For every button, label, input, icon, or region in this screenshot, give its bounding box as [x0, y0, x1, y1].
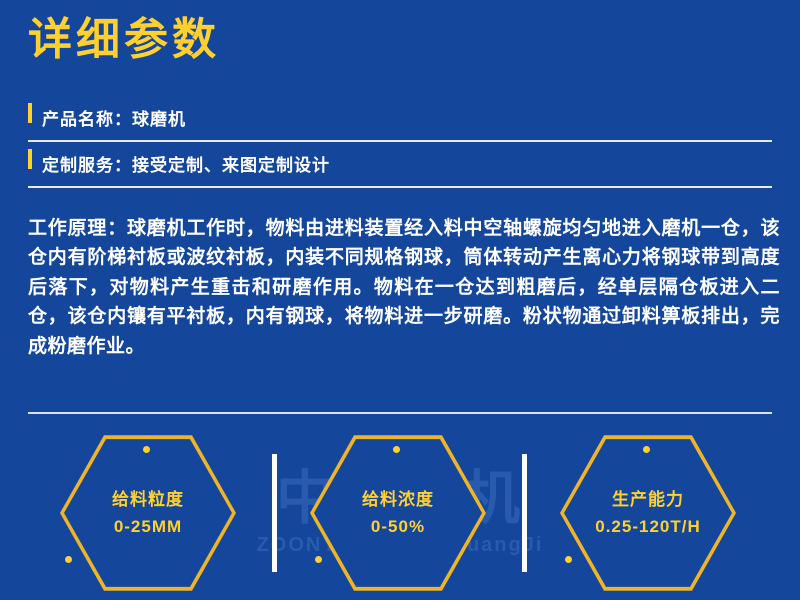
working-principle-paragraph: 工作原理：球磨机工作时，物料由进料装置经入料中空轴螺旋均匀地进入磨机一仓，该仓内… — [28, 214, 780, 361]
hex-dot-icon — [315, 556, 322, 563]
page-title: 详细参数 — [28, 14, 220, 67]
spec-name: 生产能力 — [612, 489, 684, 510]
spec-name: 给料浓度 — [362, 489, 434, 510]
accent-bar-icon — [28, 149, 32, 169]
spec-hexagon-inner: 生产能力 0.25-120T/H — [564, 436, 732, 590]
spec-value: 0.25-120T/H — [595, 516, 701, 537]
spec-hexagon-inner: 给料浓度 0-50% — [314, 436, 482, 590]
info-row-text: 产品名称：球磨机 — [42, 110, 186, 129]
spec-value: 0-25MM — [114, 516, 182, 537]
hex-dot-icon — [393, 446, 400, 453]
parameter-page: 详细参数 产品名称：球磨机 定制服务：接受定制、来图定制设计 工作原理：球磨机工… — [0, 0, 800, 600]
spec-separator — [272, 454, 277, 572]
divider — [28, 412, 772, 414]
spec-hexagon-capacity: 生产能力 0.25-120T/H — [560, 432, 736, 594]
spec-separator — [522, 454, 527, 572]
hex-dot-icon — [565, 556, 572, 563]
info-row-custom-service: 定制服务：接受定制、来图定制设计 — [28, 142, 772, 186]
accent-bar-icon — [28, 103, 32, 123]
hex-dot-icon — [143, 446, 150, 453]
info-row-text: 定制服务：接受定制、来图定制设计 — [42, 156, 330, 175]
info-row-product-name: 产品名称：球磨机 — [28, 96, 772, 140]
spec-hexagon-feed-size: 给料粒度 0-25MM — [60, 432, 236, 594]
divider — [28, 186, 772, 188]
spec-value: 0-50% — [371, 516, 425, 537]
spec-hexagon-group: 给料粒度 0-25MM 给料浓度 0-50% 生产能力 0.25-120T/H — [0, 428, 800, 600]
spec-hexagon-inner: 给料粒度 0-25MM — [64, 436, 232, 590]
spec-name: 给料粒度 — [112, 489, 184, 510]
spec-hexagon-feed-concentration: 给料浓度 0-50% — [310, 432, 486, 594]
info-block: 产品名称：球磨机 定制服务：接受定制、来图定制设计 — [28, 96, 772, 188]
hex-dot-icon — [643, 446, 650, 453]
hex-dot-icon — [65, 556, 72, 563]
